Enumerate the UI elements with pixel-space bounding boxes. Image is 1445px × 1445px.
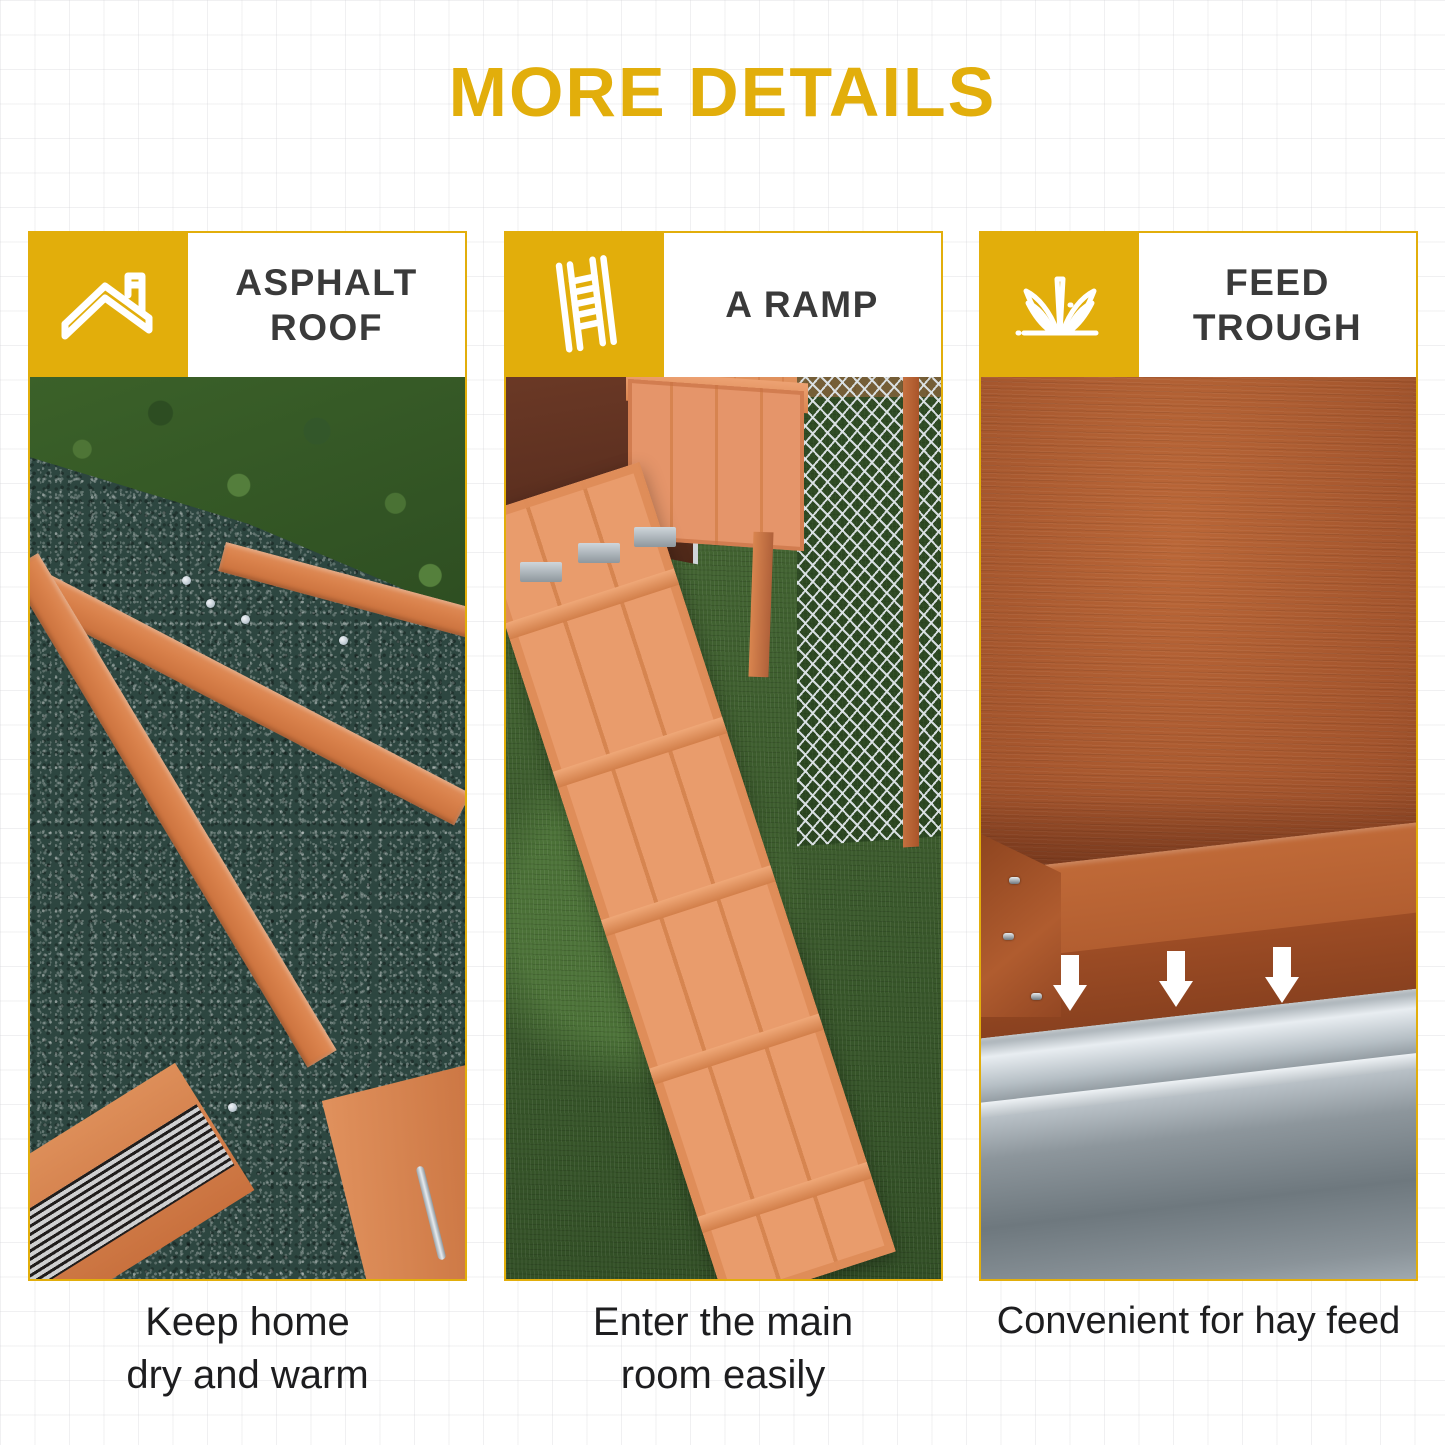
ladder-icon (542, 255, 628, 355)
caption-feed-trough: Convenient for hay feed (979, 1296, 1418, 1402)
ledge-screw (1009, 877, 1020, 884)
ramp-hinge-plate (578, 543, 620, 563)
card-heading-ramp: A RAMP (664, 233, 941, 377)
roof-screw (339, 636, 348, 645)
arrow-shaft (1061, 955, 1079, 989)
roof-screw (206, 599, 215, 608)
page-title: MORE DETAILS (0, 52, 1445, 132)
icon-box-roof (30, 233, 188, 377)
ledge-screw (1031, 993, 1042, 1000)
ramp-rung (552, 717, 727, 788)
roof-icon (61, 268, 157, 342)
detail-card-asphalt-roof: ASPHALT ROOF (28, 231, 467, 1281)
ramp-hinge-plate (520, 562, 562, 582)
ramp-hinge-plate (634, 527, 676, 547)
captions-row: Keep home dry and warm Enter the main ro… (28, 1296, 1418, 1402)
icon-box-ladder (506, 233, 664, 377)
ramp-rung (649, 1014, 824, 1085)
ramp-photo (506, 377, 941, 1279)
feed-trough-photo (981, 377, 1416, 1279)
detail-card-ramp: A RAMP (504, 231, 943, 1281)
roof-screw (182, 576, 191, 585)
detail-card-feed-trough: FEED TROUGH (979, 231, 1418, 1281)
card-header-feed-trough: FEED TROUGH (981, 233, 1416, 377)
arrow-shaft (1273, 947, 1291, 981)
arrow-head (1265, 977, 1299, 1003)
down-arrow-indicator (1159, 951, 1193, 1007)
ramp-rung (601, 865, 776, 936)
ramp-rung (697, 1162, 872, 1233)
down-arrow-indicator (1265, 947, 1299, 1003)
icon-box-grass (981, 233, 1139, 377)
asphalt-roof-photo (30, 377, 465, 1279)
roof-screw (228, 1103, 237, 1112)
grass-icon (1010, 265, 1110, 345)
arrow-head (1053, 985, 1087, 1011)
card-header-ramp: A RAMP (506, 233, 941, 377)
card-heading-feed-trough: FEED TROUGH (1139, 233, 1416, 377)
arrow-head (1159, 981, 1193, 1007)
card-heading-asphalt-roof: ASPHALT ROOF (188, 233, 465, 377)
roof-screw (241, 615, 250, 624)
detail-cards-row: ASPHALT ROOF (28, 231, 1418, 1281)
caption-asphalt-roof: Keep home dry and warm (28, 1296, 467, 1402)
caption-ramp: Enter the main room easily (504, 1296, 943, 1402)
down-arrow-indicator (1053, 955, 1087, 1011)
ledge-screw (1003, 933, 1014, 940)
card-header-asphalt-roof: ASPHALT ROOF (30, 233, 465, 377)
mesh-frame-post (903, 377, 919, 848)
arrow-shaft (1167, 951, 1185, 985)
